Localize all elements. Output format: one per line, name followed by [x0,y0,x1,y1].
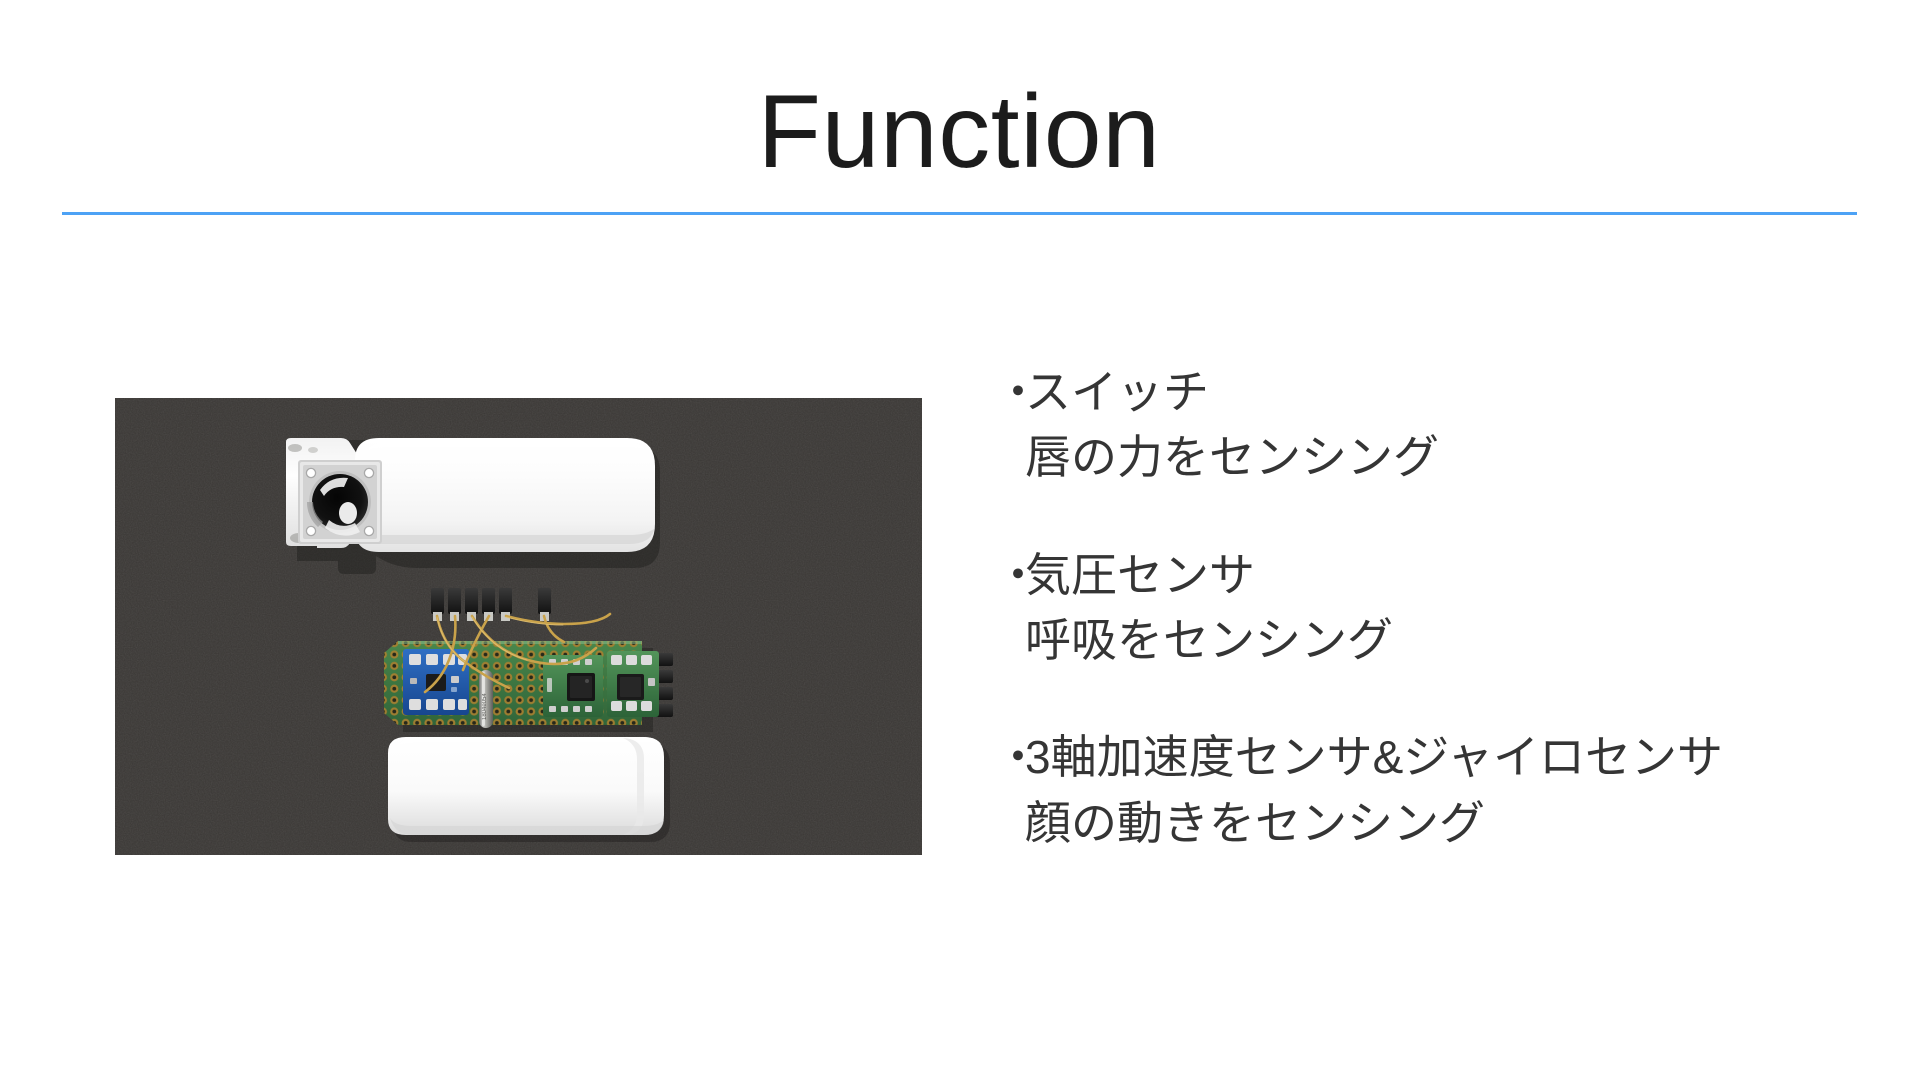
bullet-marker-icon: ・ [995,360,1025,425]
feature-list: ・ スイッチ 唇の力をセンシング ・ 気圧センサ 呼吸をセンシング ・ 3軸加速… [995,360,1855,856]
page-title: Function [0,78,1918,187]
imu-module [607,651,659,717]
bullet-heading-text: スイッチ [1025,360,1209,425]
bullet-heading-text: 3軸加速度センサ&ジャイロセンサ [1025,725,1723,790]
bullet-marker-icon: ・ [995,725,1025,790]
bullet-detail-text: 顔の動きをセンシング [995,791,1855,856]
bullet-marker-icon: ・ [995,543,1025,608]
photo-canvas: 1804e054 [115,398,922,855]
device-hardware-photo: 1804e054 [115,398,922,855]
bullet-detail-text: 呼吸をセンシング [995,608,1855,673]
enclosure-bottom-base [388,737,670,842]
list-item: ・ 気圧センサ 呼吸をセンシング [995,543,1855,674]
list-item: ・ スイッチ 唇の力をセンシング [995,360,1855,491]
list-item: ・ 3軸加速度センサ&ジャイロセンサ 顔の動きをセンシング [995,725,1855,856]
bullet-detail-text: 唇の力をセンシング [995,425,1855,490]
bullet-heading-row: ・ 3軸加速度センサ&ジャイロセンサ [995,725,1855,790]
title-underline-rule [62,212,1857,215]
bullet-heading-text: 気圧センサ [1025,543,1255,608]
enclosure-top-cover [286,438,660,574]
svg-text:1804e054: 1804e054 [482,693,488,720]
bullet-heading-row: ・ 気圧センサ [995,543,1855,608]
connector-socket [298,460,382,544]
bullet-heading-row: ・ スイッチ [995,360,1855,425]
